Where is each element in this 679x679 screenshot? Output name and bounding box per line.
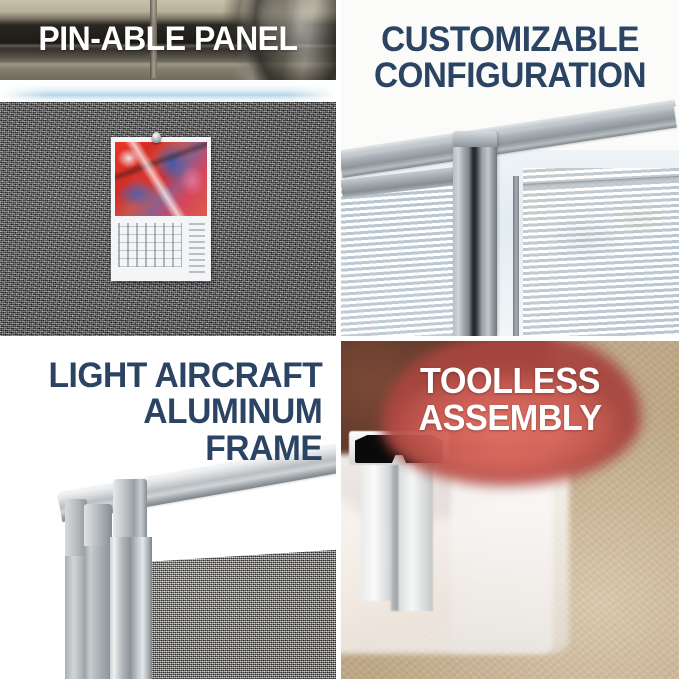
heading-customizable-configuration: CUSTOMIZABLE CONFIGURATION xyxy=(349,22,670,95)
extrusion-body-left xyxy=(361,461,391,601)
heading-light-aircraft-aluminum-frame: LIGHT AIRCRAFT ALUMINUM FRAME xyxy=(13,358,330,467)
horizontal-divider xyxy=(0,336,679,341)
aluminum-corner-post xyxy=(453,133,497,336)
push-pin-icon xyxy=(152,132,161,143)
aluminum-post-cap xyxy=(453,131,497,147)
ceiling-light-strip xyxy=(0,80,336,104)
heading-pin-able-panel: PIN-ABLE PANEL xyxy=(10,22,326,57)
pinned-calendar xyxy=(111,137,211,281)
calendar-artwork xyxy=(115,142,207,216)
venetian-blinds-right xyxy=(523,168,679,336)
feature-collage: PIN-ABLE PANEL CUSTOMIZABLE CONFIGURATIO… xyxy=(0,0,679,679)
glass-mullion xyxy=(513,176,519,336)
front-corner-post xyxy=(110,537,152,679)
middle-post xyxy=(84,546,112,679)
fabric-panel-insert xyxy=(130,549,336,679)
heading-toolless-assembly: TOOLLESS ASSEMBLY xyxy=(349,362,670,437)
calendar-date-grid xyxy=(118,223,182,267)
extrusion-body-right xyxy=(399,461,433,611)
middle-post-cap xyxy=(84,504,112,548)
extrusion-center-gap xyxy=(391,463,399,611)
white-panel-face-right xyxy=(451,467,569,653)
calendar-side-text xyxy=(189,221,205,273)
